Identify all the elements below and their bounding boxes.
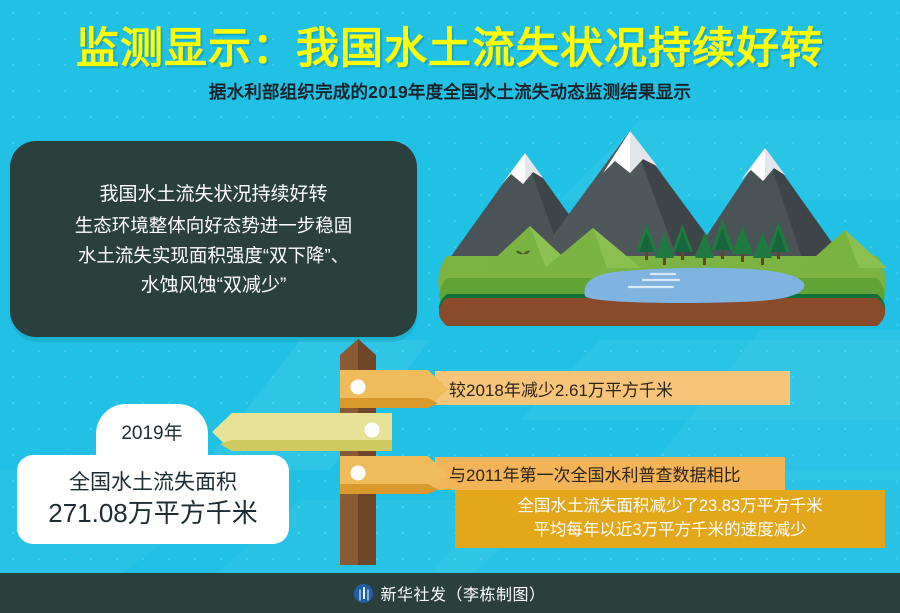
sign-arrow-top	[340, 370, 450, 408]
comparison-headline: 与2011年第一次全国水利普查数据相比	[449, 461, 741, 486]
statement-panel: 我国水土流失状况持续好转 生态环境整体向好态势进一步稳固 水土流失实现面积强度“…	[10, 141, 417, 337]
comparison-panel-vs-2011-body: 全国水土流失面积减少了23.83万平方千米 平均每年以近3万平方千米的速度减少	[455, 490, 885, 548]
statement-line: 水蚀风蚀“双减少”	[141, 271, 287, 302]
xinhua-logo-icon	[354, 584, 373, 603]
statement-line: 我国水土流失状况持续好转	[99, 180, 327, 211]
sign-bolt	[351, 466, 366, 481]
year-badge: 2019年	[96, 404, 208, 462]
total-area-value: 271.08万平方千米	[48, 498, 258, 529]
sign-bolt	[365, 423, 380, 438]
sign-arrow-bottom	[340, 456, 450, 494]
comparison-detail: 平均每年以近3万平方千米的速度减少	[533, 519, 806, 543]
page-subtitle: 据水利部组织完成的2019年度全国水土流失动态监测结果显示	[0, 79, 900, 104]
year-badge-label: 2019年	[121, 418, 182, 448]
mountain-island-illustration	[425, 128, 900, 343]
comparison-headline: 较2018年减少2.61万平方千米	[449, 376, 673, 401]
header-block: 监测显示：我国水土流失状况持续好转 据水利部组织完成的2019年度全国水土流失动…	[0, 26, 900, 104]
total-area-label: 全国水土流失面积	[69, 470, 237, 496]
statement-line: 生态环境整体向好态势进一步稳固	[75, 211, 353, 241]
total-area-card: 全国水土流失面积 271.08万平方千米	[17, 455, 289, 544]
comparison-panel-vs-2018: 较2018年减少2.61万平方千米	[435, 371, 790, 405]
infographic-canvas: 监测显示：我国水土流失状况持续好转 据水利部组织完成的2019年度全国水土流失动…	[0, 0, 900, 613]
sign-bolt	[351, 380, 366, 395]
lake	[585, 268, 805, 303]
footer-bar: 新华社发（李栋制图）	[0, 573, 900, 613]
page-title: 监测显示：我国水土流失状况持续好转	[0, 26, 900, 72]
sign-arrow-middle	[210, 413, 392, 451]
comparison-detail: 全国水土流失面积减少了23.83万平方千米	[517, 495, 822, 519]
comparison-panel-vs-2011-header: 与2011年第一次全国水利普查数据相比	[435, 457, 785, 490]
footer-credit: 新华社发（李栋制图）	[380, 581, 545, 605]
statement-line: 水土流失实现面积强度“双下降”、	[78, 241, 349, 271]
